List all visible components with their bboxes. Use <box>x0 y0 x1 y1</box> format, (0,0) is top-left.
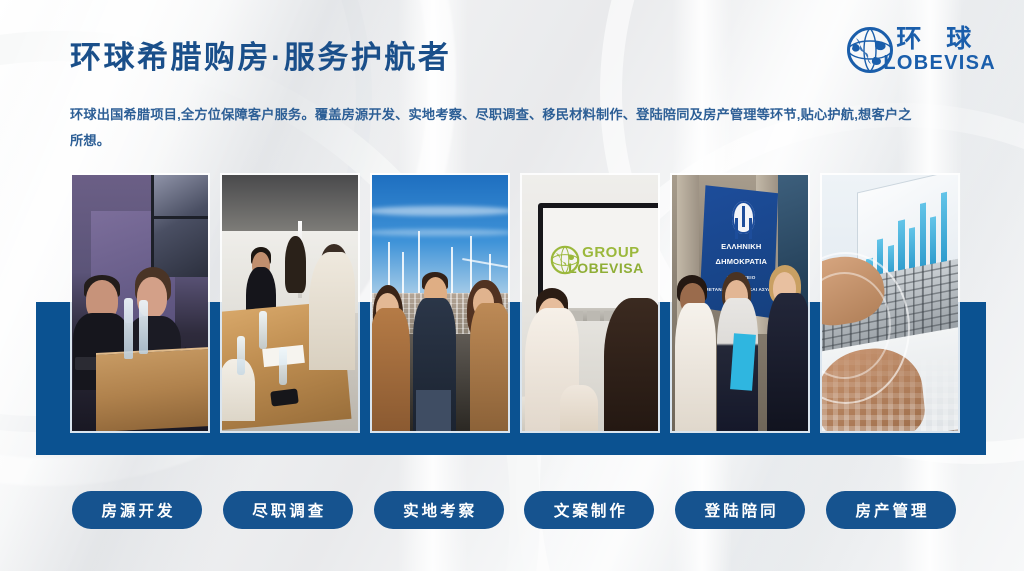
gallery-photo-greek-ministry: ΕΛΛΗΝΙΚΗ ΔΗΜΟΚΡΑΤΙΑ ΥΠΟΥΡΓΕΙΟ ΜΕΤΑΝΑΣΤΕΥ… <box>672 175 808 431</box>
screen-globe-icon <box>550 245 580 275</box>
greek-crest-icon <box>732 201 755 234</box>
service-pill-jin-zhi-diao-cha[interactable]: 尽职调查 <box>223 491 353 529</box>
service-pill-row: 房源开发 尽职调查 实地考察 文案制作 登陆陪同 房产管理 <box>72 491 956 529</box>
screen-logo-text: GROUP LOBEVISA <box>582 245 644 275</box>
service-pill-fang-yuan-kai-fa[interactable]: 房源开发 <box>72 491 202 529</box>
gallery-photo-meeting-room <box>222 175 358 431</box>
page-title: 环球希腊购房·服务护航者 <box>70 32 451 77</box>
service-pill-shi-di-kao-cha[interactable]: 实地考察 <box>374 491 504 529</box>
service-pill-fang-chan-guan-li[interactable]: 房产管理 <box>826 491 956 529</box>
globe-icon <box>846 26 894 74</box>
slide-root: 环球希腊购房·服务护航者 环球出国希腊项目,全方位保障客户服务。覆盖房源开发、实… <box>0 0 1024 571</box>
banner-line-2: ΔΗΜΟΚΡΑΤΙΑ <box>705 257 778 266</box>
photo-gallery: GROUP LOBEVISA ΕΛΛΗΝΙΚΗ ΔΗΜΟΚΡΑ <box>72 175 952 431</box>
banner-line-1: ΕΛΛΗΝΙΚΗ <box>705 242 778 251</box>
gallery-photo-marina-visit <box>372 175 508 431</box>
brand-name-cn: 环 球 <box>883 27 996 52</box>
service-pill-wen-an-zhi-zuo[interactable]: 文案制作 <box>524 491 654 529</box>
brand-name-en: LOBEVISA <box>883 53 996 73</box>
page-subtitle: 环球出国希腊项目,全方位保障客户服务。覆盖房源开发、实地考察、尽职调查、移民材料… <box>70 102 918 154</box>
gallery-photo-consultation-desk <box>72 175 208 431</box>
brand-wordmark: 环 球 LOBEVISA <box>883 27 996 73</box>
brand-logo: 环 球 LOBEVISA <box>846 24 996 76</box>
service-pill-deng-lu-pei-tong[interactable]: 登陆陪同 <box>675 491 805 529</box>
gallery-photo-presentation-screen: GROUP LOBEVISA <box>522 175 658 431</box>
gallery-photo-laptop-data <box>822 175 958 431</box>
